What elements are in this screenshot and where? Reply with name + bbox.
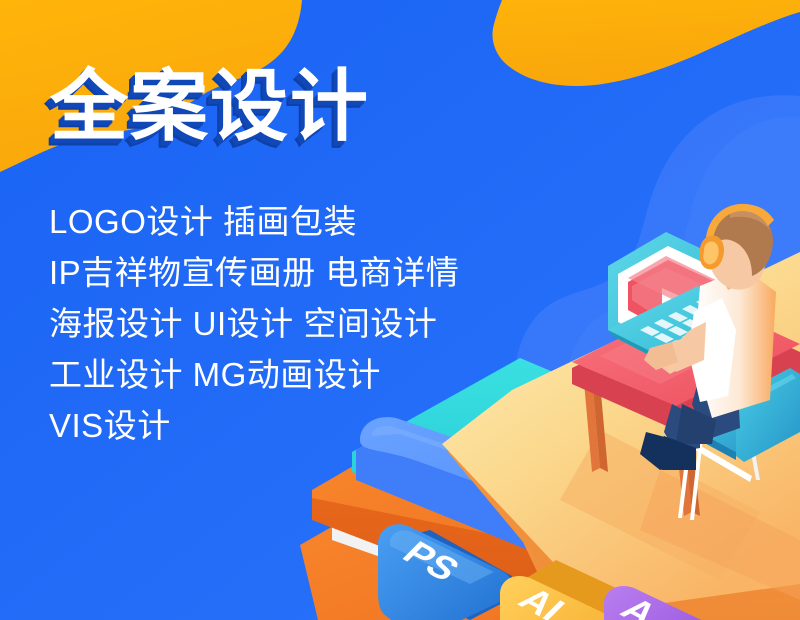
service-line-2: IP吉祥物宣传画册 电商详情 xyxy=(49,247,459,298)
service-line-4: 工业设计 MG动画设计 xyxy=(49,349,459,400)
page-title: 全案设计 xyxy=(50,58,370,154)
poster-canvas: PS AI A 全案设计 L xyxy=(0,0,800,620)
service-line-1: LOGO设计 插画包装 xyxy=(49,196,459,247)
service-list: LOGO设计 插画包装 IP吉祥物宣传画册 电商详情 海报设计 UI设计 空间设… xyxy=(49,196,459,451)
service-line-5: VIS设计 xyxy=(49,400,459,451)
service-line-3: 海报设计 UI设计 空间设计 xyxy=(49,298,459,349)
